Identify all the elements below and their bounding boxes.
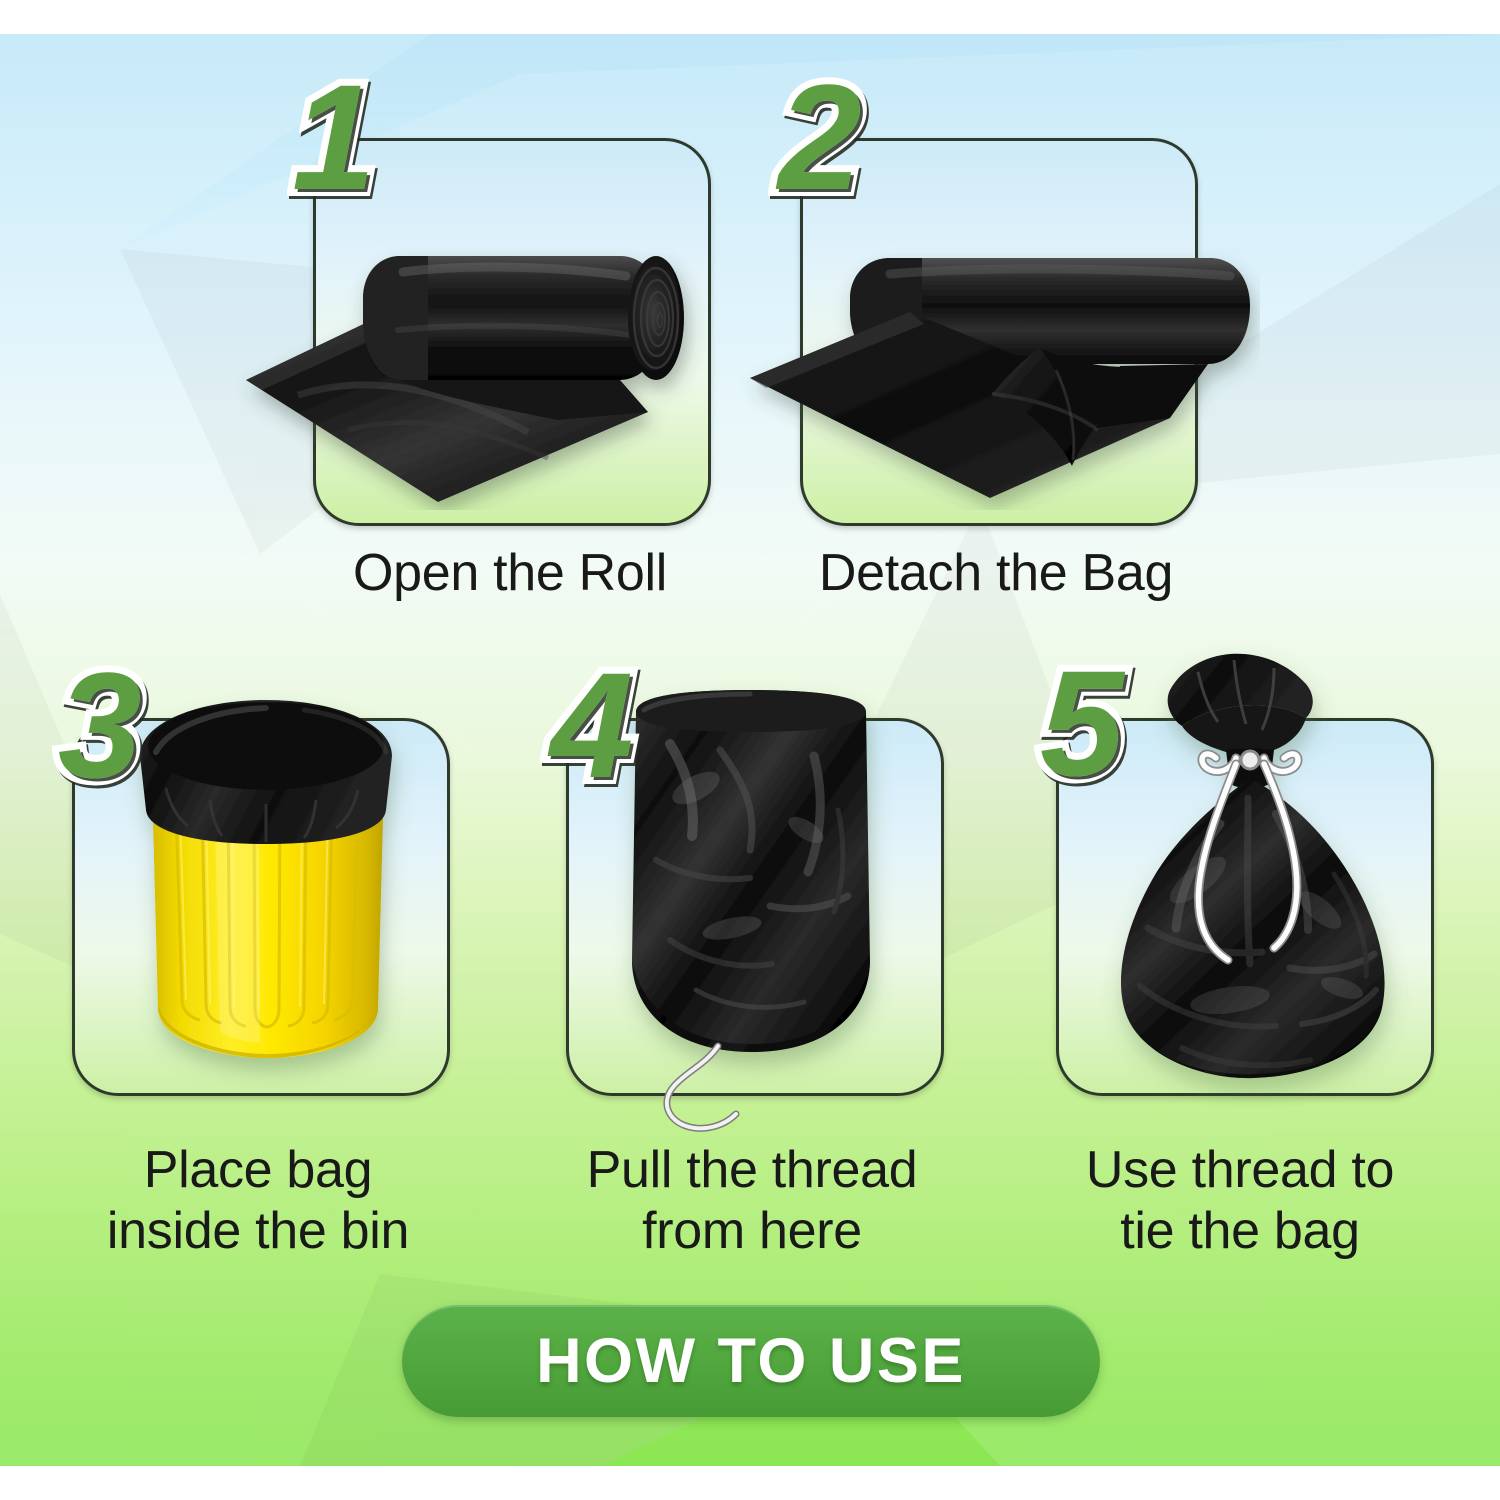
step-caption-2: Detach the Bag — [786, 543, 1206, 604]
step-caption-4: Pull the thread from here — [548, 1140, 956, 1262]
infographic-canvas: 1 Open the Roll — [0, 0, 1500, 1500]
step-caption-1: Open the Roll — [300, 543, 720, 604]
step-caption-3: Place bag inside the bin — [58, 1140, 458, 1262]
step-3-illustration-bin-with-liner — [96, 660, 436, 1100]
step-2-illustration-detaching-bag — [740, 180, 1260, 510]
thread-path — [667, 1046, 736, 1128]
how-to-use-banner: HOW TO USE — [402, 1305, 1100, 1417]
step-badge-1: 1 — [292, 62, 375, 212]
step-caption-5: Use thread to tie the bag — [1040, 1140, 1440, 1262]
step-1-illustration-plastic-roll — [228, 180, 748, 510]
step-badge-2: 2 — [778, 62, 861, 212]
step-badge-4: 4 — [550, 650, 633, 800]
step-badge-5: 5 — [1040, 648, 1123, 798]
step-number-2: 2 — [778, 62, 861, 212]
step-4-illustration-open-bag-thread — [600, 660, 940, 1140]
step-number-1: 1 — [292, 62, 375, 212]
how-to-use-label: HOW TO USE — [536, 1325, 966, 1397]
step-number-5: 5 — [1040, 648, 1123, 798]
step-5-illustration-tied-bag — [1070, 628, 1430, 1108]
step-badge-3: 3 — [58, 650, 141, 800]
step-number-4: 4 — [550, 650, 633, 800]
step-number-3: 3 — [58, 650, 141, 800]
